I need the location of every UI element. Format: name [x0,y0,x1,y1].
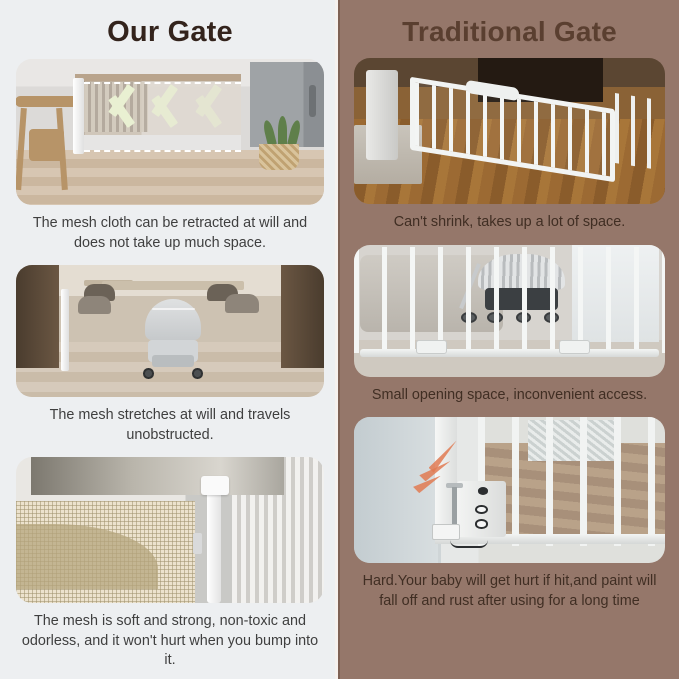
woven-plant-pot [259,144,299,170]
gate-rod [207,481,221,604]
latch-screw [478,487,488,494]
doorway-left-frame [16,265,59,368]
upper-wall-band [31,457,284,495]
gate-wall-mount [559,340,590,355]
mesh-edge-tab [193,533,202,553]
stroller-passing-through-open-mesh-gate-photo [16,265,324,397]
stroller-basket [152,355,194,367]
stair-newel-post [366,70,397,161]
traditional-gate-row-2: Small opening space, inconvenient access… [354,245,665,406]
our-gate-caption-1: The mesh cloth can be retracted at will … [18,214,322,253]
our-gate-row-2: The mesh stretches at will and travels u… [16,265,324,445]
our-gate-caption-2: The mesh stretches at will and travels u… [18,406,322,445]
our-gate-panel: Our Gate [0,0,340,679]
stroller-wheel [143,368,153,378]
gate-bottom-rail [360,349,659,357]
traditional-gate-title: Traditional Gate [354,0,665,46]
traditional-gate-row-1: Can't shrink, takes up a lot of space. [354,58,665,233]
dining-chair [78,296,112,314]
mesh-gate-post [61,289,69,371]
traditional-gate-caption-1: Can't shrink, takes up a lot of space. [356,213,663,233]
traditional-gate-caption-3: Hard.Your baby will get hurt if hit,and … [356,572,663,611]
wall [354,417,438,563]
mesh-gate-post [73,78,84,154]
retractable-mesh-gate-kitchen-photo [16,59,324,205]
our-gate-caption-3: The mesh is soft and strong, non-toxic a… [18,612,322,671]
wall-bracket [201,476,229,495]
hard-metal-gate-latch-impact-photo [354,417,665,563]
baby-stroller [142,299,204,386]
latch-button [475,519,487,528]
stroller-blocked-by-metal-gate-photo [354,245,665,377]
traditional-gate-row-3: Hard.Your baby will get hurt if hit,and … [354,417,665,611]
mesh-bottom-dashed-guide [84,150,241,152]
mesh-top-dashed-guide [84,82,241,84]
comparison-infographic: Our Gate [0,0,679,679]
plant-leaf [278,116,287,147]
traditional-gate-panel: Traditional Gate Can't shrink, takes up … [340,0,679,679]
soft-mesh-fabric-closeup-photo [16,457,324,603]
doorway-right-frame [281,265,324,368]
our-gate-row-1: The mesh cloth can be retracted at will … [16,59,324,253]
gate-wall-mount [416,340,447,355]
stroller-wheel [192,368,202,378]
gate-bars [478,417,665,545]
traditional-metal-gate-stairs-photo [354,58,665,204]
our-gate-title: Our Gate [16,0,324,47]
kitchen-countertop [75,74,241,81]
traditional-gate-caption-2: Small opening space, inconvenient access… [356,386,663,406]
gate-cord [450,538,487,547]
latch-button [475,505,487,514]
stroller-hood [145,299,202,340]
refrigerator-handle [309,85,317,117]
gate-extension-panel [615,93,652,169]
gate-bars [354,247,665,353]
our-gate-row-3: The mesh is soft and strong, non-toxic a… [16,457,324,671]
dining-chair [225,294,259,312]
